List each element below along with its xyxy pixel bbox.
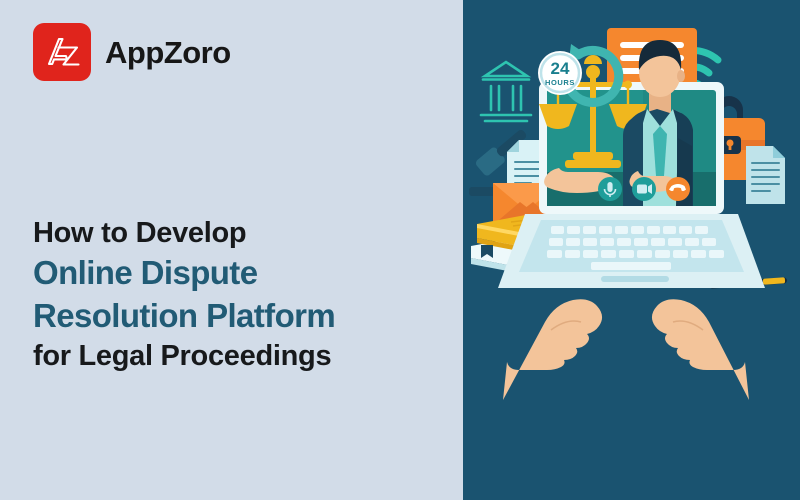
courthouse-icon	[481, 62, 531, 121]
badge-number: 24	[551, 59, 570, 78]
headline-line-1: How to Develop	[33, 214, 443, 252]
headline-line-3: Resolution Platform	[33, 295, 443, 337]
document-icon	[746, 146, 785, 204]
appzoro-logo-mark	[33, 23, 91, 81]
mic-button[interactable]	[598, 177, 622, 201]
end-call-button[interactable]	[666, 177, 690, 201]
left-content-panel: AppZoro How to Develop Online Dispute Re…	[0, 0, 463, 500]
badge-unit: HOURS	[545, 78, 575, 87]
headline-line-4: for Legal Proceedings	[33, 337, 443, 375]
illustration-panel: 24 HOURS	[463, 0, 800, 500]
laptop-base	[498, 214, 765, 288]
online-dispute-resolution-illustration: 24 HOURS	[463, 0, 800, 500]
az-monogram-icon	[33, 23, 91, 81]
headline-line-2: Online Dispute	[33, 252, 443, 294]
brand-name: AppZoro	[105, 37, 231, 68]
blog-banner: AppZoro How to Develop Online Dispute Re…	[0, 0, 800, 500]
brand-logo[interactable]: AppZoro	[33, 23, 231, 81]
headline: How to Develop Online Dispute Resolution…	[33, 214, 443, 375]
camera-button[interactable]	[632, 177, 656, 201]
typing-hands	[503, 299, 749, 400]
call-controls[interactable]	[598, 177, 690, 201]
